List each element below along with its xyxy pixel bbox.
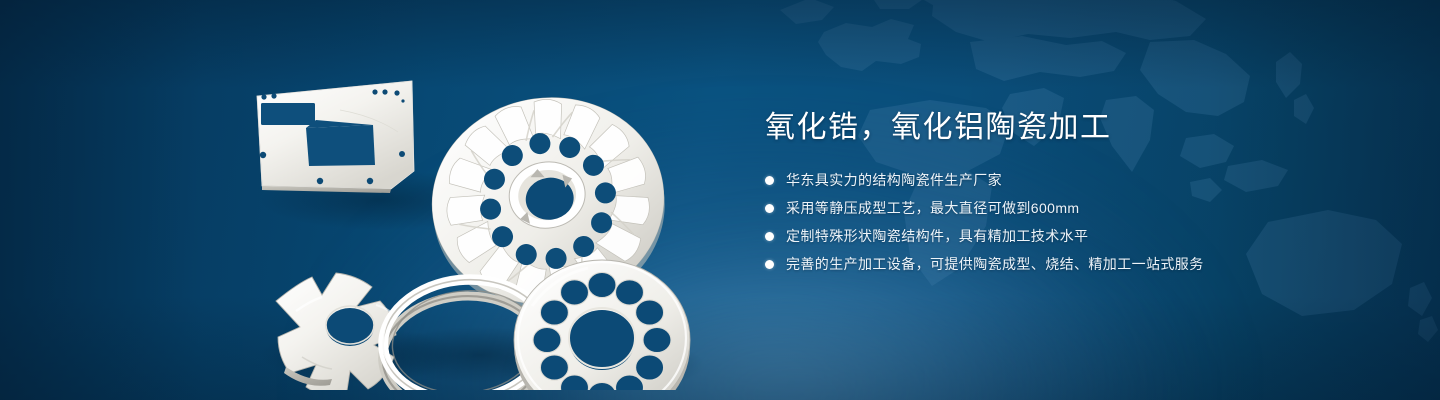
list-item: 采用等静压成型工艺，最大直径可做到600mm [765,198,1365,218]
feature-text: 定制特殊形状陶瓷结构件，具有精加工技术水平 [786,226,1088,246]
ceramic-cross-blade-part [276,273,398,390]
list-item: 定制特殊形状陶瓷结构件，具有精加工技术水平 [765,226,1365,246]
list-item: 完善的生产加工设备，可提供陶瓷成型、烧结、精加工一站式服务 [765,254,1365,274]
feature-text: 华东具实力的结构陶瓷件生产厂家 [786,170,1002,190]
feature-text: 完善的生产加工设备，可提供陶瓷成型、烧结、精加工一站式服务 [786,254,1204,274]
bullet-dot-icon [765,232,774,241]
feature-list: 华东具实力的结构陶瓷件生产厂家 采用等静压成型工艺，最大直径可做到600mm 定… [765,170,1365,274]
ceramic-products-image [230,55,720,390]
bullet-dot-icon [765,260,774,269]
promo-banner: 氧化锆，氧化铝陶瓷加工 华东具实力的结构陶瓷件生产厂家 采用等静压成型工艺，最大… [0,0,1440,400]
bullet-dot-icon [765,204,774,213]
banner-copy: 氧化锆，氧化铝陶瓷加工 华东具实力的结构陶瓷件生产厂家 采用等静压成型工艺，最大… [765,108,1365,274]
headline: 氧化锆，氧化铝陶瓷加工 [765,108,1365,148]
feature-text: 采用等静压成型工艺，最大直径可做到600mm [786,198,1079,218]
bullet-dot-icon [765,176,774,185]
list-item: 华东具实力的结构陶瓷件生产厂家 [765,170,1365,190]
ceramic-plate-part [257,81,414,193]
